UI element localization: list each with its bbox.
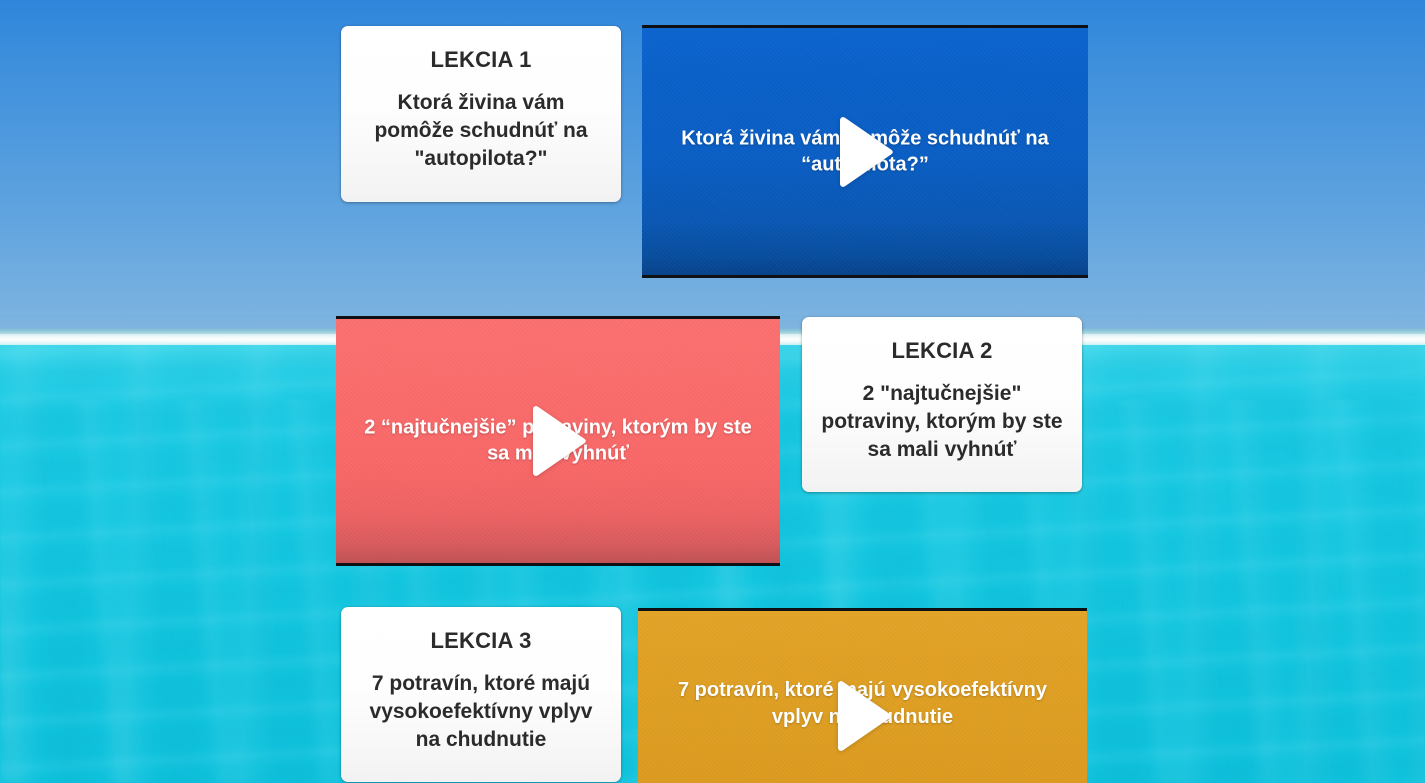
lesson-video-3[interactable]: 7 potravín, ktoré majú vysokoefektívny v… <box>638 608 1087 783</box>
lesson-card-1[interactable]: LEKCIA 1 Ktorá živina vám pomôže schudnú… <box>341 26 621 202</box>
lesson-list: LEKCIA 1 Ktorá živina vám pomôže schudnú… <box>0 0 1425 783</box>
play-triangle-icon[interactable] <box>834 116 896 188</box>
lesson-title-3: 7 potravín, ktoré majú vysokoefektívny v… <box>357 670 605 754</box>
lesson-video-2[interactable]: 2 “najtučnejšie” potraviny, ktorým by st… <box>336 316 780 566</box>
lesson-title-1: Ktorá živina vám pomôže schudnúť na "aut… <box>357 89 605 173</box>
lesson-card-3[interactable]: LEKCIA 3 7 potravín, ktoré majú vysokoef… <box>341 607 621 782</box>
play-triangle-icon[interactable] <box>832 680 894 752</box>
lesson-label-2: LEKCIA 2 <box>818 339 1066 363</box>
play-triangle-icon[interactable] <box>527 405 589 477</box>
lesson-label-1: LEKCIA 1 <box>357 48 605 72</box>
lesson-card-2[interactable]: LEKCIA 2 2 "najtučnejšie" potraviny, kto… <box>802 317 1082 492</box>
lesson-video-1[interactable]: Ktorá živina vám pomôže schudnúť na “aut… <box>642 25 1088 278</box>
lesson-label-3: LEKCIA 3 <box>357 629 605 653</box>
lesson-title-2: 2 "najtučnejšie" potraviny, ktorým by st… <box>818 380 1066 464</box>
